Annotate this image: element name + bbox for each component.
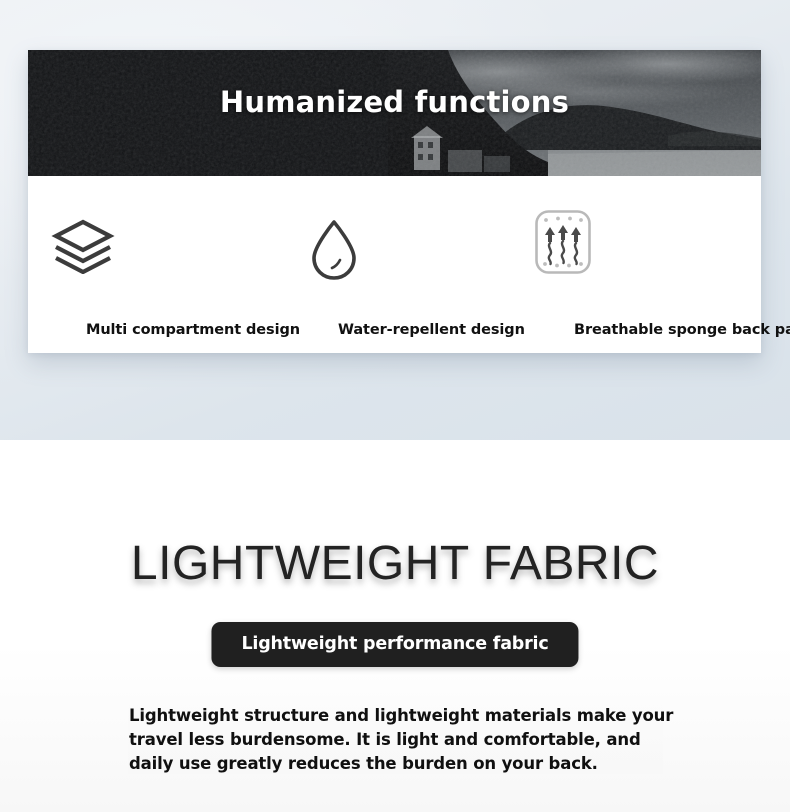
feature-label-multi-compartment: Multi compartment design (86, 322, 300, 338)
feature-label-breathable-pad: Breathable sponge back pad (574, 322, 790, 338)
water-droplet-icon (309, 218, 359, 285)
feature-card: Humanized functions (28, 50, 761, 353)
feature-item-multi-compartment[interactable]: Multi compartment design (28, 176, 278, 353)
features-row: Multi compartment design Water-repellent… (28, 176, 761, 353)
lightweight-performance-badge[interactable]: Lightweight performance fabric (211, 622, 578, 667)
humanized-functions-section: Humanized functions (0, 0, 790, 440)
feature-item-water-repellent[interactable]: Water-repellent design (278, 176, 506, 353)
product-detail-page: Humanized functions (0, 0, 790, 812)
banner-title: Humanized functions (28, 85, 761, 119)
layers-icon (50, 216, 116, 279)
feature-label-water-repellent: Water-repellent design (338, 322, 525, 338)
breathable-pad-icon (534, 209, 592, 280)
description-text: Lightweight structure and lightweight ma… (129, 704, 674, 776)
page-title: LIGHTWEIGHT FABRIC (0, 536, 790, 591)
banner: Humanized functions (28, 50, 761, 176)
feature-item-breathable-pad[interactable]: Breathable sponge back pad (506, 176, 761, 353)
